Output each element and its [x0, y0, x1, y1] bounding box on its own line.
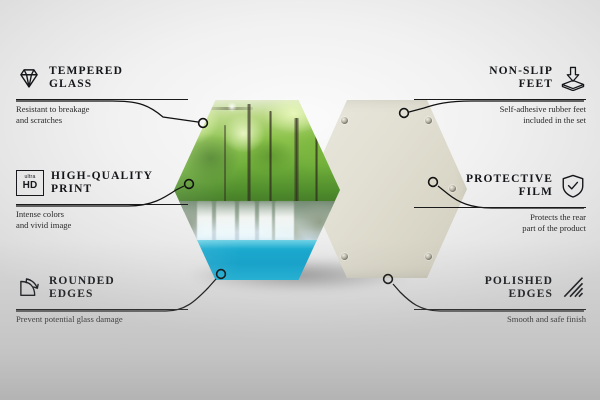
feature-tempered-glass: TEMPERED GLASS Resistant to breakage and…	[16, 58, 188, 125]
rounded-corner-icon	[16, 275, 42, 301]
feature-title-line1: POLISHED	[485, 275, 553, 288]
feature-desc-line1: Prevent potential glass damage	[16, 314, 188, 325]
feature-desc-line1: Protects the rear	[414, 212, 586, 223]
mounting-hole	[341, 253, 348, 260]
printed-glass-hexagon	[174, 100, 340, 280]
feature-title-line1: ROUNDED	[49, 275, 115, 288]
feature-polished-edges: POLISHED EDGES Smooth and safe finish	[414, 268, 586, 325]
mounting-hole	[425, 253, 432, 260]
feature-divider	[16, 204, 188, 205]
diamond-icon	[16, 65, 42, 91]
feature-title-line1: PROTECTIVE	[466, 173, 553, 186]
feature-title-line1: HIGH-QUALITY	[51, 170, 153, 183]
feature-title-line2: FEET	[489, 78, 553, 91]
press-down-pad-icon	[560, 65, 586, 91]
feature-protective-film: PROTECTIVE FILM Protects the rear part o…	[414, 166, 586, 233]
ultra-hd-badge-icon: ultra HD	[16, 170, 44, 196]
feature-divider	[414, 207, 586, 208]
feature-high-quality-print: ultra HD HIGH-QUALITY PRINT Intense colo…	[16, 163, 188, 230]
feature-title-line2: GLASS	[49, 78, 123, 91]
feature-divider	[414, 309, 586, 310]
feature-desc-line1: Smooth and safe finish	[414, 314, 586, 325]
feature-divider	[16, 309, 188, 310]
feature-desc-line1: Intense colors	[16, 209, 188, 220]
feature-desc-line2: part of the product	[414, 223, 586, 234]
feature-non-slip-feet: NON-SLIP FEET Self-adhesive rubber feet …	[414, 58, 586, 125]
feature-desc-line2: and vivid image	[16, 220, 188, 231]
feature-divider	[414, 99, 586, 100]
ultra-hd-bottom-text: HD	[23, 181, 38, 191]
feature-desc-line2: included in the set	[414, 115, 586, 126]
hatched-triangle-icon	[560, 275, 586, 301]
infographic-canvas: TEMPERED GLASS Resistant to breakage and…	[0, 0, 600, 400]
feature-title-line2: EDGES	[49, 288, 115, 301]
feature-divider	[16, 99, 188, 100]
feature-desc-line1: Resistant to breakage	[16, 104, 188, 115]
feature-title-line2: EDGES	[485, 288, 553, 301]
feature-rounded-edges: ROUNDED EDGES Prevent potential glass da…	[16, 268, 188, 325]
waterfall-photo	[174, 100, 340, 280]
feature-desc-line1: Self-adhesive rubber feet	[414, 104, 586, 115]
feature-title-line1: TEMPERED	[49, 65, 123, 78]
feature-desc-line2: and scratches	[16, 115, 188, 126]
shield-check-icon	[560, 173, 586, 199]
feature-title-line1: NON-SLIP	[489, 65, 553, 78]
feature-title-line2: PRINT	[51, 183, 153, 196]
feature-title-line2: FILM	[466, 186, 553, 199]
mounting-hole	[341, 117, 348, 124]
